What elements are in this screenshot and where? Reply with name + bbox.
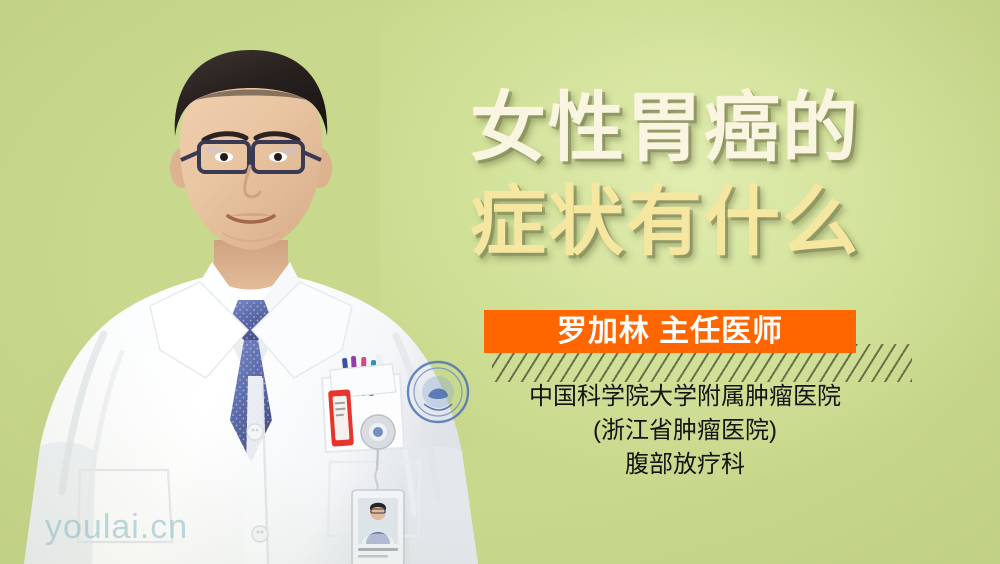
affiliation-line-3: 腹部放疗科 [455,448,915,482]
doctor-head [170,50,332,250]
doctor-name-title-text: 罗加林 主任医师 [557,317,783,347]
name-banner-fill: 罗加林 主任医师 [484,310,856,353]
affiliation-block: 中国科学院大学附属肿瘤医院 (浙江省肿瘤医院) 腹部放疗科 [455,380,915,482]
doctor-name-banner: 罗加林 主任医师 [484,310,904,374]
video-thumbnail-card: 女性胃癌的 症状有什么 罗加林 主任医师 中国科学院大学附属肿瘤医院 (浙江省肿… [0,0,1000,564]
affiliation-line-2: (浙江省肿瘤医院) [455,414,915,448]
title-block: 女性胃癌的 症状有什么 [470,84,940,267]
coat-button [252,526,268,542]
affiliation-line-1: 中国科学院大学附属肿瘤医院 [455,380,915,414]
doctor-portrait-photo [0,0,500,564]
coat-button [247,424,263,440]
red-name-tag [328,389,354,446]
title-line-2: 症状有什么 [470,178,940,268]
title-line-1: 女性胃癌的 [470,84,940,174]
id-badge-card [352,490,404,564]
